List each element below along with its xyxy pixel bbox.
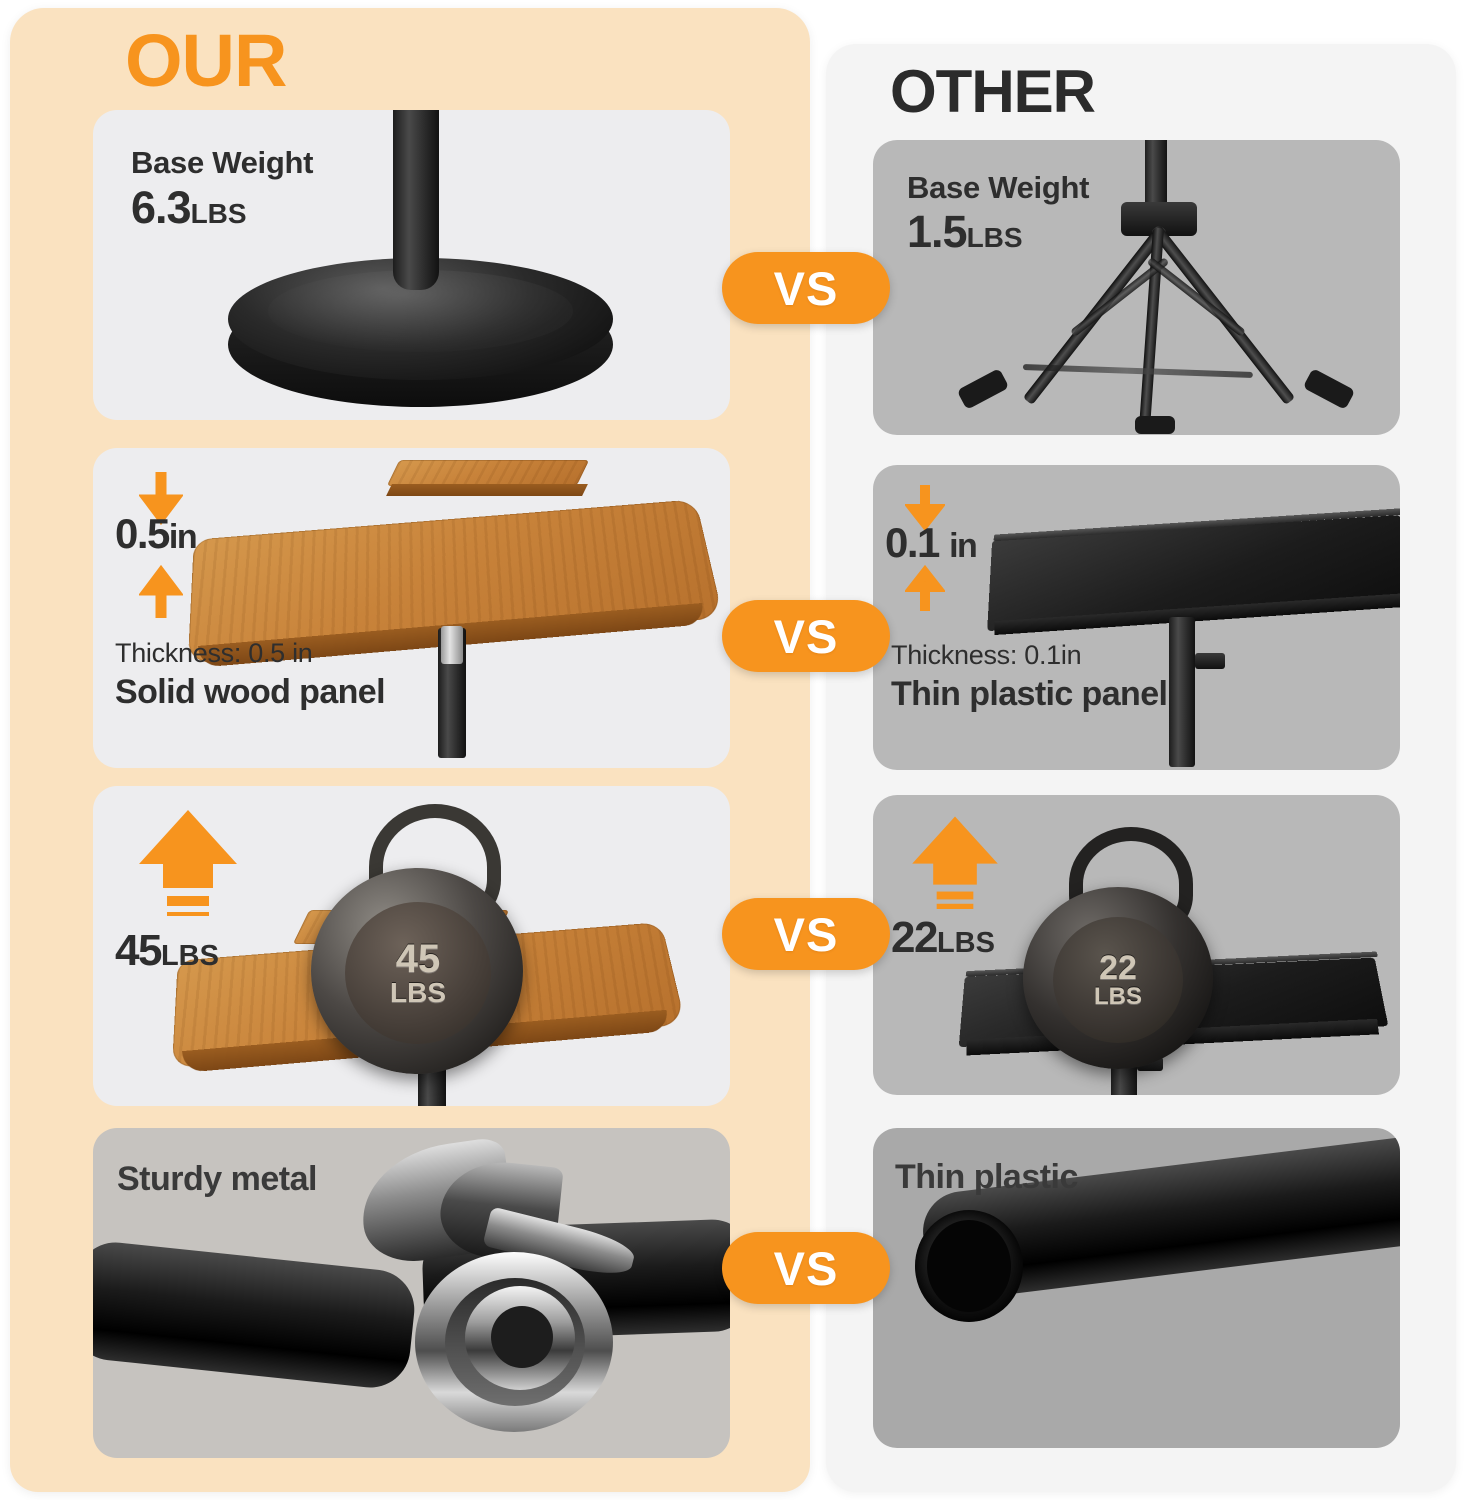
vs-badge-base-weight: VS [722,252,890,324]
our-card-load-capacity: 45 LBS 45LBS [93,786,730,1106]
our-base-weight-unit: LBS [191,198,247,229]
our-kettlebell-value: 45 [396,940,441,979]
other-card-material: Thin plastic [873,1128,1400,1448]
our-base-weight-value-row: 6.3LBS [131,182,247,234]
other-thickness-dimension-unit: in [949,527,976,565]
our-thickness-dimension-unit: in [169,518,196,556]
other-thickness-dimension-row: 0.1 in [885,519,976,567]
vs-badge-material: VS [722,1232,890,1304]
other-kettlebell-value: 22 [1099,952,1137,985]
load-capacity-up-arrow-icon [907,813,1003,909]
our-capacity-unit: LBS [161,940,219,972]
comparison-infographic: OUR OTHER Base Weight 6.3LBS [0,0,1466,1500]
our-base-weight-value: 6.3 [131,182,191,233]
other-base-weight-value: 1.5 [907,206,967,257]
other-thickness-caption: Thickness: 0.1in [891,640,1081,671]
our-thickness-dimension-row: 0.5in [115,510,196,558]
other-thickness-dimension: 0.1 [885,519,939,566]
other-column-title: OTHER [890,62,1095,122]
other-panel-material-label: Thin plastic panel [891,675,1167,714]
our-thickness-caption: Thickness: 0.5 in [115,638,313,669]
other-base-weight-heading: Base Weight [907,170,1089,206]
other-capacity-unit: LBS [937,927,995,959]
other-capacity-value: 22 [891,913,937,962]
our-card-panel-thickness: 0.5in Thickness: 0.5 in Solid wood panel [93,448,730,768]
other-base-weight-unit: LBS [967,222,1023,253]
our-card-material: Sturdy metal [93,1128,730,1458]
our-capacity-value: 45 [115,926,161,975]
other-material-label: Thin plastic [895,1158,1078,1197]
vs-badge-load-capacity: VS [722,898,890,970]
load-capacity-up-arrow-icon [133,806,243,916]
other-card-load-capacity: 22 LBS 22LBS [873,795,1400,1095]
our-base-weight-heading: Base Weight [131,145,313,181]
other-card-base-weight: Base Weight 1.5LBS [873,140,1400,435]
other-card-panel-thickness: 0.1 in Thickness: 0.1in Thin plastic pan… [873,465,1400,770]
other-capacity-value-row: 22LBS [891,913,995,963]
other-kettlebell-face: 22 LBS [1053,917,1183,1043]
our-capacity-value-row: 45LBS [115,926,219,976]
our-column-title: OUR [125,24,286,98]
other-kettlebell-unit: LBS [1094,985,1142,1009]
our-card-base-weight: Base Weight 6.3LBS [93,110,730,420]
other-base-weight-value-row: 1.5LBS [907,206,1023,258]
our-thickness-dimension: 0.5 [115,510,169,557]
our-material-label: Sturdy metal [117,1160,317,1199]
our-panel-material-label: Solid wood panel [115,673,385,712]
our-kettlebell-face: 45 LBS [345,902,491,1044]
vs-badge-panel-thickness: VS [722,600,890,672]
our-kettlebell-unit: LBS [390,979,446,1006]
